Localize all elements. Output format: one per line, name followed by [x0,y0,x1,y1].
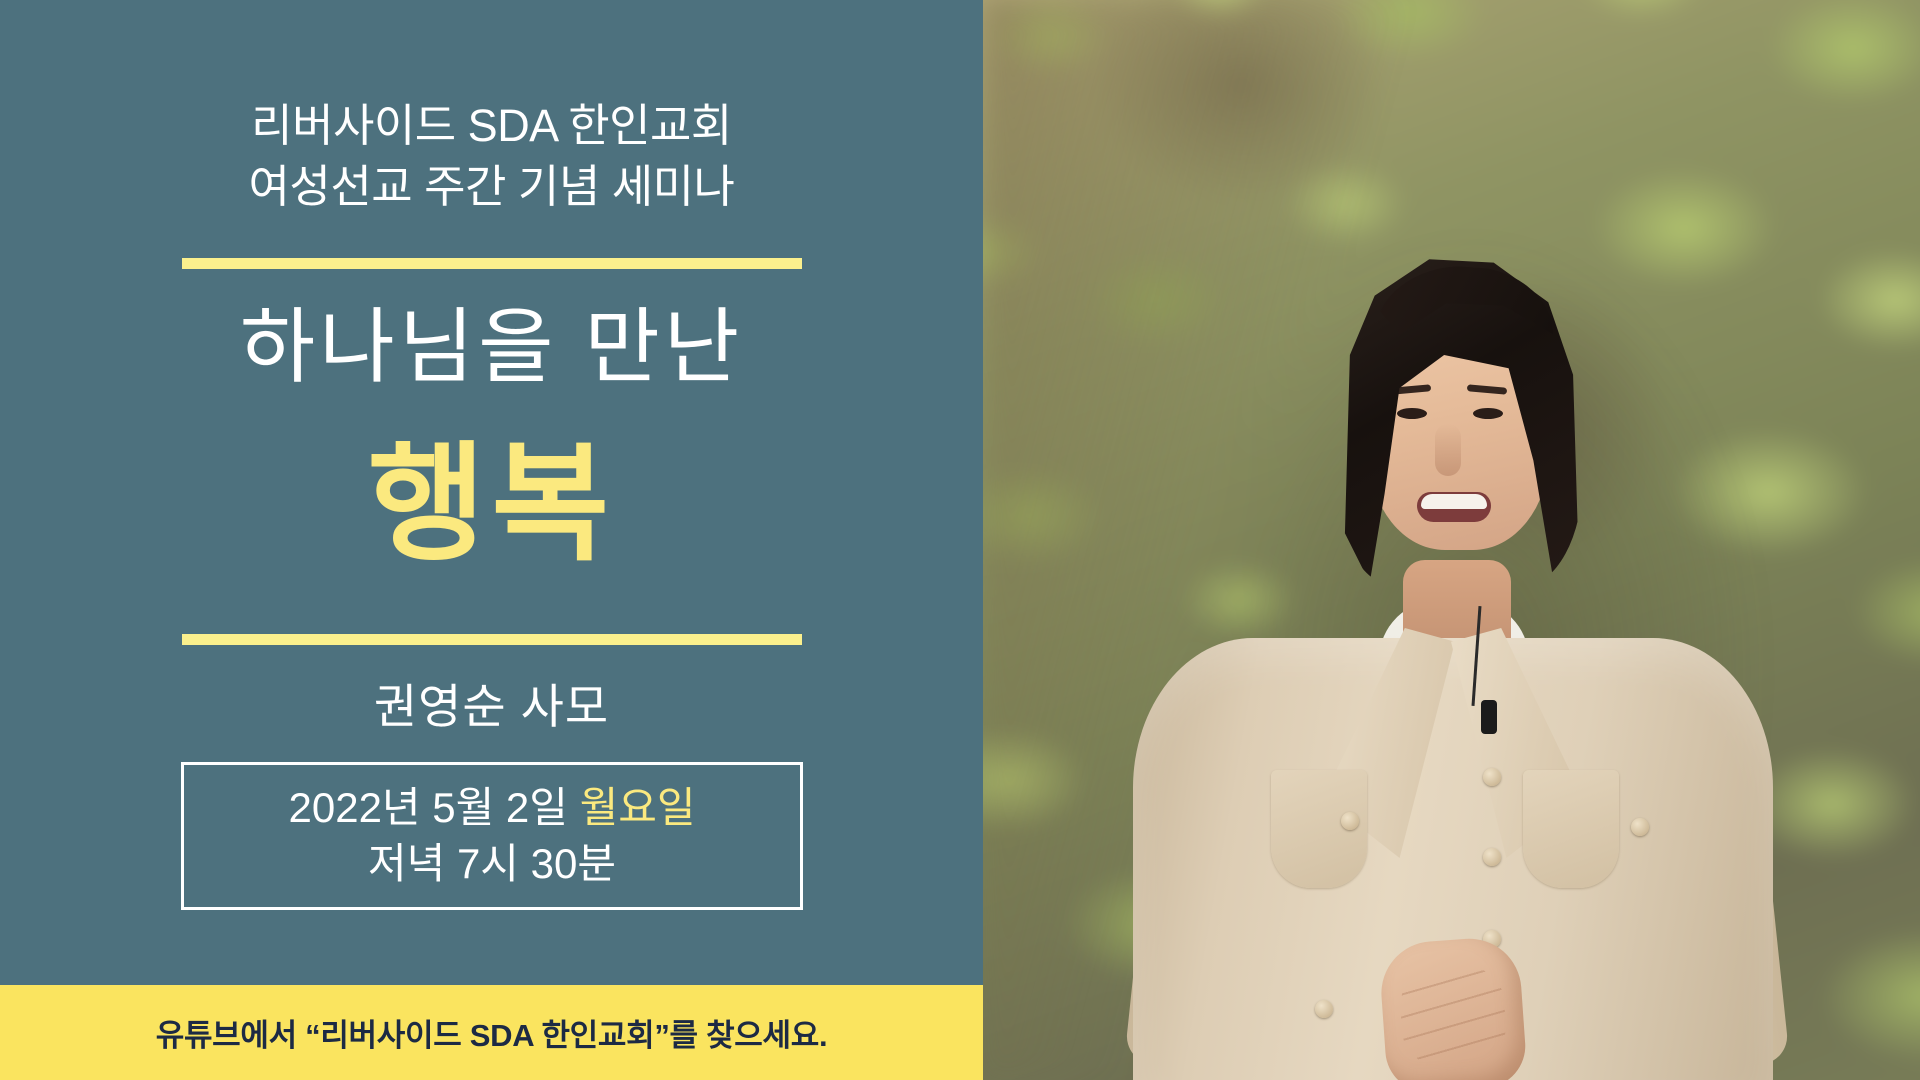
speaker-figure [983,0,1920,1080]
pocket-button [1341,812,1359,830]
schedule-box: 2022년 5월 2일 월요일 저녁 7시 30분 [181,762,803,910]
jacket-button [1483,768,1501,786]
heading-line-2: 여성선교 주간 기념 세미나 [0,156,983,217]
nose [1435,424,1461,476]
schedule-weekday: 월요일 [580,784,696,831]
clasped-hands [1378,935,1528,1080]
youtube-banner: 유튜브에서 “리버사이드 SDA 한인교회”를 찾으세요. [0,985,983,1080]
jacket-pocket-right [1523,770,1619,888]
schedule-time: 저녁 7시 30분 [368,836,616,892]
pocket-button [1631,818,1649,836]
divider-rule-bottom [182,634,802,645]
jacket-button [1483,848,1501,866]
youtube-banner-text: 유튜브에서 “리버사이드 SDA 한인교회”를 찾으세요. [156,1010,828,1055]
seminar-title-accent: 행복 [0,430,983,580]
lapel-microphone-icon [1481,700,1497,734]
speaker-name: 권영순 사모 [0,678,983,736]
mouth [1417,492,1491,522]
speaker-photo [983,0,1920,1080]
slide-canvas: 리버사이드 SDA 한인교회 여성선교 주간 기념 세미나 하나님을 만난 행복… [0,0,1920,1080]
eye-right [1473,408,1503,419]
church-heading: 리버사이드 SDA 한인교회 여성선교 주간 기념 세미나 [0,95,983,217]
schedule-date-text: 2022년 5월 2일 [289,784,580,831]
seminar-title-main: 하나님을 만난 [0,300,983,396]
schedule-date: 2022년 5월 2일 월요일 [289,780,696,836]
title-panel: 리버사이드 SDA 한인교회 여성선교 주간 기념 세미나 하나님을 만난 행복… [0,0,983,985]
jacket-button [1315,1000,1333,1018]
divider-rule-top [182,258,802,269]
eye-left [1397,408,1427,419]
heading-line-1: 리버사이드 SDA 한인교회 [0,95,983,156]
teeth [1421,494,1487,509]
